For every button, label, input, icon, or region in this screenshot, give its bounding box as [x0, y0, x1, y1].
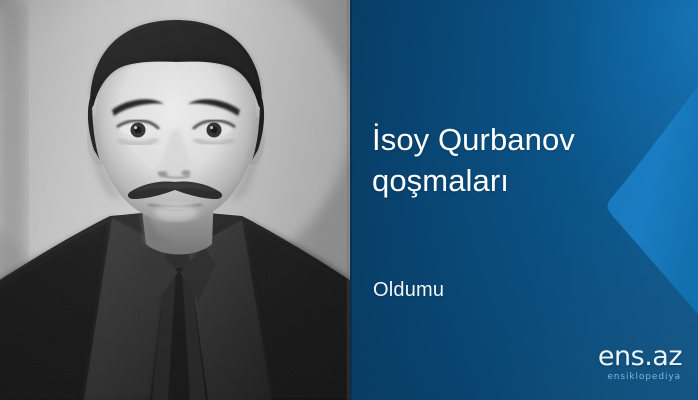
portrait-illustration — [0, 0, 350, 400]
panel-seam — [350, 0, 352, 400]
ens-az-logo[interactable]: ens.az ensiklopediya — [598, 343, 682, 382]
logo-tagline: ensiklopediya — [598, 373, 681, 382]
page-title-line-2: qoşmaları — [372, 161, 642, 202]
info-panel: İsoy Qurbanov qoşmaları Oldumu ens.az en… — [350, 0, 698, 400]
page-title: İsoy Qurbanov qoşmaları — [372, 120, 642, 201]
slide-canvas: İsoy Qurbanov qoşmaları Oldumu ens.az en… — [0, 0, 698, 400]
page-title-line-1: İsoy Qurbanov — [372, 120, 642, 161]
portrait-photo — [0, 0, 350, 400]
logo-wordmark: ens.az — [598, 343, 682, 370]
page-subtitle: Oldumu — [373, 278, 444, 302]
